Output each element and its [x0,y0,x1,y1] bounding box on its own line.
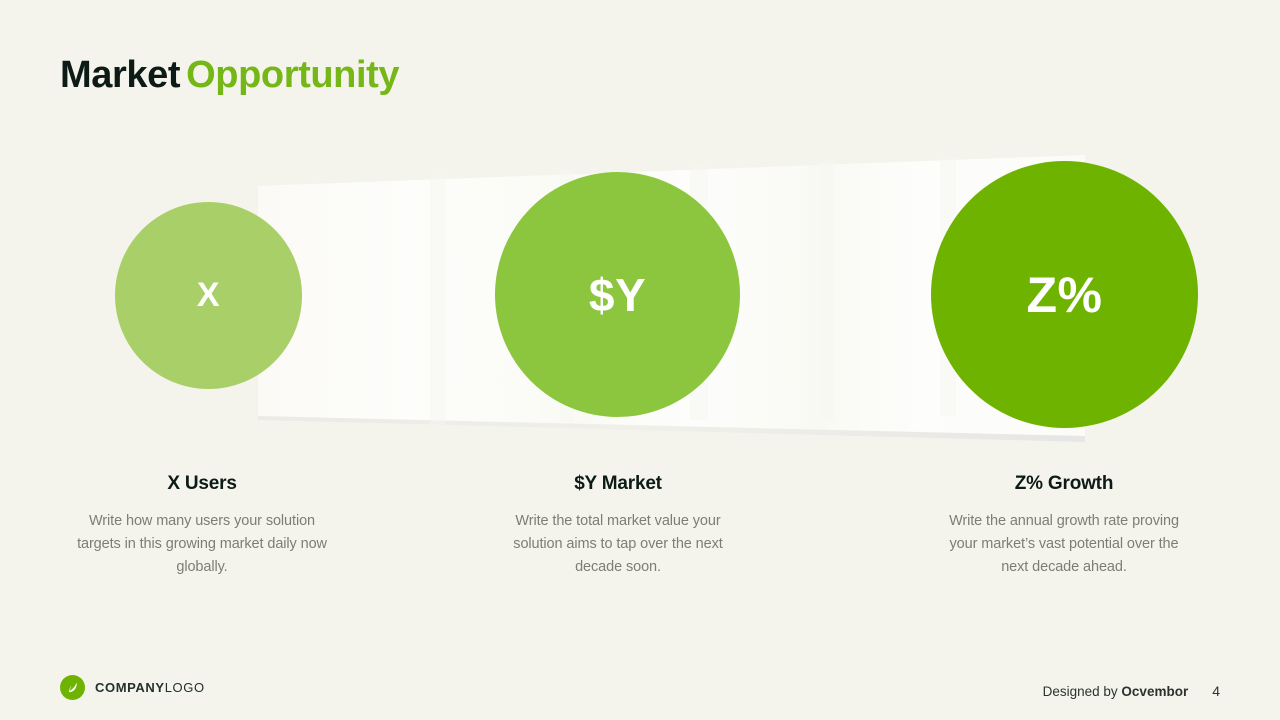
metric-circle-2[interactable]: $Y [495,172,740,417]
metric-caption-1-heading: X Users [77,473,327,495]
metric-circle-1[interactable]: X [115,202,302,389]
footer-meta: Designed by Ocvembor 4 [1043,683,1220,699]
metric-caption-2: $Y Market Write the total market value y… [493,473,743,579]
metric-circle-2-label: $Y [589,268,646,322]
designed-by-brand: Ocvembor [1121,684,1188,699]
metric-caption-2-heading: $Y Market [493,473,743,495]
metric-caption-3-body: Write the annual growth rate proving you… [939,510,1189,579]
designed-by-prefix: Designed by [1043,684,1122,699]
metric-caption-3: Z% Growth Write the annual growth rate p… [939,473,1189,579]
page-title-main: Market [60,54,180,96]
leaf-icon [60,675,85,700]
designed-by-credit: Designed by Ocvembor [1043,684,1189,699]
metric-caption-3-heading: Z% Growth [939,473,1189,495]
metric-caption-1: X Users Write how many users your soluti… [77,473,327,579]
slide-canvas: MarketOpportunity [0,0,1280,720]
metric-caption-2-body: Write the total market value your soluti… [493,510,743,579]
company-logo-text-bold: COMPANY [95,680,165,695]
caption-row: X Users Write how many users your soluti… [0,473,1280,603]
metric-circle-3[interactable]: Z% [931,161,1198,428]
metric-caption-1-body: Write how many users your solution targe… [77,510,327,579]
metric-circle-1-label: X [197,276,220,315]
page-number: 4 [1212,683,1220,699]
company-logo-text-light: LOGO [165,680,205,695]
metric-circle-3-label: Z% [1027,266,1103,324]
page-title-accent: Opportunity [186,54,399,96]
company-logo-text: COMPANYLOGO [95,680,205,695]
footer-logo[interactable]: COMPANYLOGO [60,674,205,700]
page-title: MarketOpportunity [60,55,399,97]
